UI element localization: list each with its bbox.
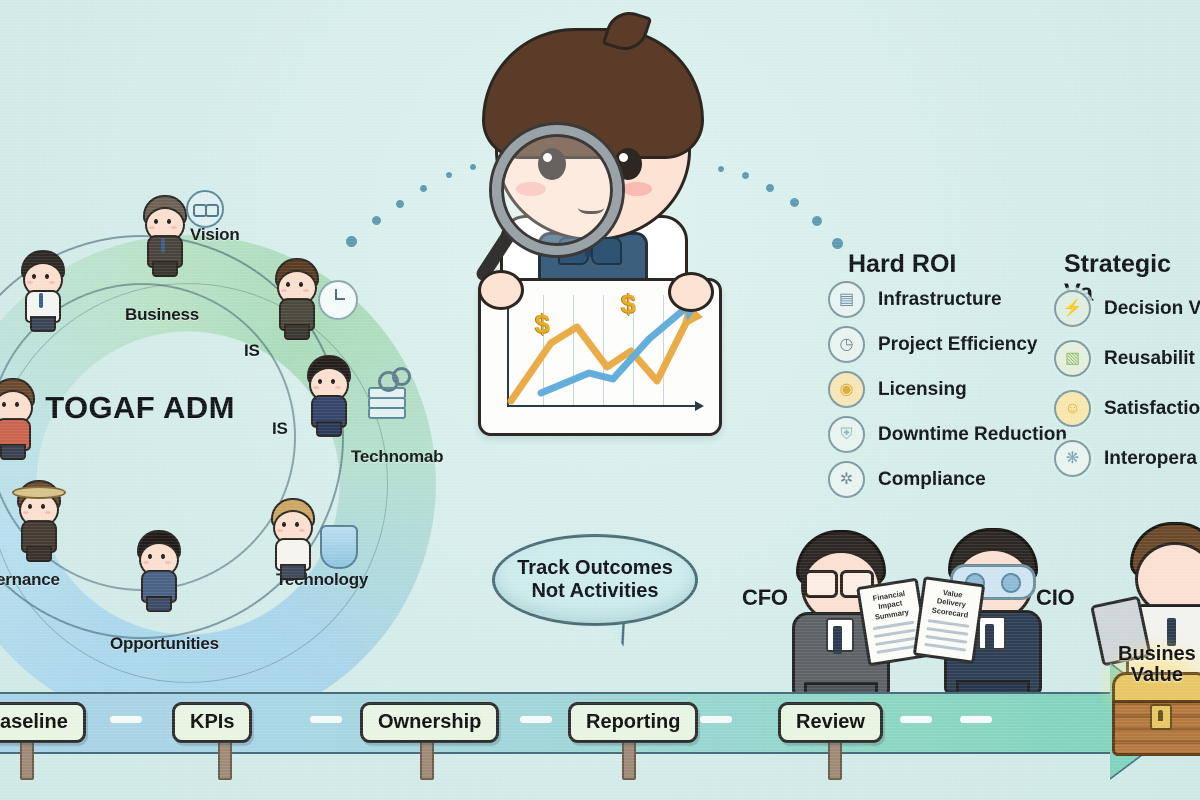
- roadmap-track: [0, 692, 1120, 754]
- clock-icon: [318, 280, 358, 320]
- adm-center-label: TOGAF ADM: [0, 390, 290, 426]
- puzzle-icon: ▧: [1054, 340, 1091, 377]
- road-dash: [110, 716, 142, 723]
- arc-dot: [396, 200, 404, 208]
- server-icon: ▤: [828, 281, 865, 318]
- cfo-eyeglass-left: [804, 570, 838, 598]
- sign-post: [20, 740, 34, 780]
- mascot-hand-left: [478, 270, 524, 310]
- strategic-value-item-satisfaction: ☺ Satisfactio: [1054, 390, 1200, 427]
- magnifier-icon: [492, 125, 622, 255]
- arc-dot: [790, 198, 799, 207]
- speech-bubble-text: Track Outcomes Not Activities: [517, 557, 673, 602]
- chibi-vision: [136, 195, 190, 273]
- adm-label-governance: ernance: [0, 570, 60, 590]
- mascot-hand-right: [668, 272, 714, 312]
- adm-label-technomab: Technomab: [351, 447, 443, 467]
- roadmap-sign-review[interactable]: Review: [778, 702, 883, 743]
- hard-roi-item-infrastructure: ▤ Infrastructure: [828, 281, 1002, 318]
- business-value-line-2: Value: [1131, 664, 1183, 686]
- hard-roi-label: Infrastructure: [878, 289, 1002, 311]
- sign-post: [828, 740, 842, 780]
- road-dash: [960, 716, 992, 723]
- cfo-document-title: Financial Impact Summary: [865, 588, 915, 623]
- cio-document: Value Delivery Scorecard: [913, 576, 986, 664]
- smiley-icon: ☺: [1054, 390, 1091, 427]
- roadmap-sign-baseline[interactable]: aseline: [0, 702, 86, 743]
- sign-post: [218, 740, 232, 780]
- road-dash: [310, 716, 342, 723]
- bubble-line-1: Track Outcomes: [517, 557, 673, 579]
- roadmap-sign-ownership[interactable]: Ownership: [360, 702, 499, 743]
- road-dash: [900, 716, 932, 723]
- arc-dot: [446, 172, 452, 178]
- database-gears-icon: [368, 375, 406, 417]
- strategic-value-label: Decision V: [1104, 298, 1200, 320]
- hard-roi-label: Compliance: [878, 469, 986, 491]
- adm-label-is-lower: IS: [272, 419, 288, 439]
- adm-label-vision: Vision: [190, 225, 240, 245]
- arc-dot: [420, 185, 427, 192]
- roadmap-sign-kpis[interactable]: KPIs: [172, 702, 252, 743]
- hard-roi-item-licensing: ◉ Licensing: [828, 371, 967, 408]
- cfo-role-label: CFO: [742, 585, 788, 611]
- cio-tie: [985, 624, 994, 652]
- arc-dot: [742, 172, 749, 179]
- chibi-governance-left: [0, 378, 38, 456]
- coin-icon: ◉: [828, 371, 865, 408]
- shield-icon: ⛨: [828, 416, 865, 453]
- cfo-tie: [833, 626, 842, 654]
- arc-dot: [470, 164, 476, 170]
- strategic-value-item-interoperability: ❋ Interopera: [1054, 440, 1197, 477]
- hard-roi-item-project-efficiency: ◷ Project Efficiency: [828, 326, 1037, 363]
- strategic-value-label: Satisfactio: [1104, 398, 1200, 420]
- chibi-technology: [264, 498, 318, 576]
- roadmap-sign-reporting[interactable]: Reporting: [568, 702, 698, 743]
- arc-dot: [718, 166, 724, 172]
- road-dash: [520, 716, 552, 723]
- cio-role-label: CIO: [1036, 585, 1075, 611]
- business-value-line-1: Busines: [1118, 643, 1196, 665]
- chibi-technomab: [300, 355, 354, 433]
- road-dash: [700, 716, 732, 723]
- bubble-line-2: Not Activities: [531, 580, 658, 602]
- strategic-value-item-decision-velocity: ⚡ Decision V: [1054, 290, 1200, 327]
- hard-roi-item-downtime-reduction: ⛨ Downtime Reduction: [828, 416, 1067, 453]
- cio-document-title: Value Delivery Scorecard: [927, 586, 976, 620]
- adm-label-is-upper: IS: [244, 341, 260, 361]
- business-value-label: Busines Value: [1118, 644, 1196, 686]
- hard-roi-label: Licensing: [878, 379, 967, 401]
- hard-roi-label: Project Efficiency: [878, 334, 1037, 356]
- sign-post: [622, 740, 636, 780]
- strategic-value-item-reusability: ▧ Reusabilit: [1054, 340, 1195, 377]
- chibi-opportunities: [130, 530, 184, 608]
- shield-icon-wheel: [320, 525, 358, 569]
- chibi-is: [268, 258, 322, 336]
- chibi-business: [14, 250, 68, 328]
- hard-roi-title: Hard ROI: [848, 250, 956, 279]
- arc-dot: [812, 216, 822, 226]
- strategic-value-label: Interopera: [1104, 448, 1197, 470]
- adm-label-opportunities: Opportunities: [110, 634, 219, 654]
- arc-dot: [832, 238, 843, 249]
- gear-badge-icon: ✲: [828, 461, 865, 498]
- adm-label-business: Business: [125, 305, 199, 325]
- vision-glasses-icon: [186, 190, 224, 228]
- strategic-value-label: Reusabilit: [1104, 348, 1195, 370]
- hard-roi-label: Downtime Reduction: [878, 424, 1067, 446]
- network-icon: ❋: [1054, 440, 1091, 477]
- hard-roi-item-compliance: ✲ Compliance: [828, 461, 986, 498]
- arc-dot: [346, 236, 357, 247]
- illustration-canvas: TOGAF ADM Vision Business IS IS Technoma…: [0, 0, 1200, 800]
- dollar-sign-icon: $: [535, 309, 550, 340]
- mascot-blush-right: [622, 182, 652, 196]
- chibi-governance: [10, 480, 64, 558]
- lightning-icon: ⚡: [1054, 290, 1091, 327]
- chest-lock-icon: [1150, 704, 1172, 730]
- arc-dot: [766, 184, 774, 192]
- arc-dot: [372, 216, 381, 225]
- clock-doc-icon: ◷: [828, 326, 865, 363]
- dollar-sign-icon: $: [621, 289, 636, 320]
- sign-post: [420, 740, 434, 780]
- speech-bubble: Track Outcomes Not Activities: [492, 534, 698, 626]
